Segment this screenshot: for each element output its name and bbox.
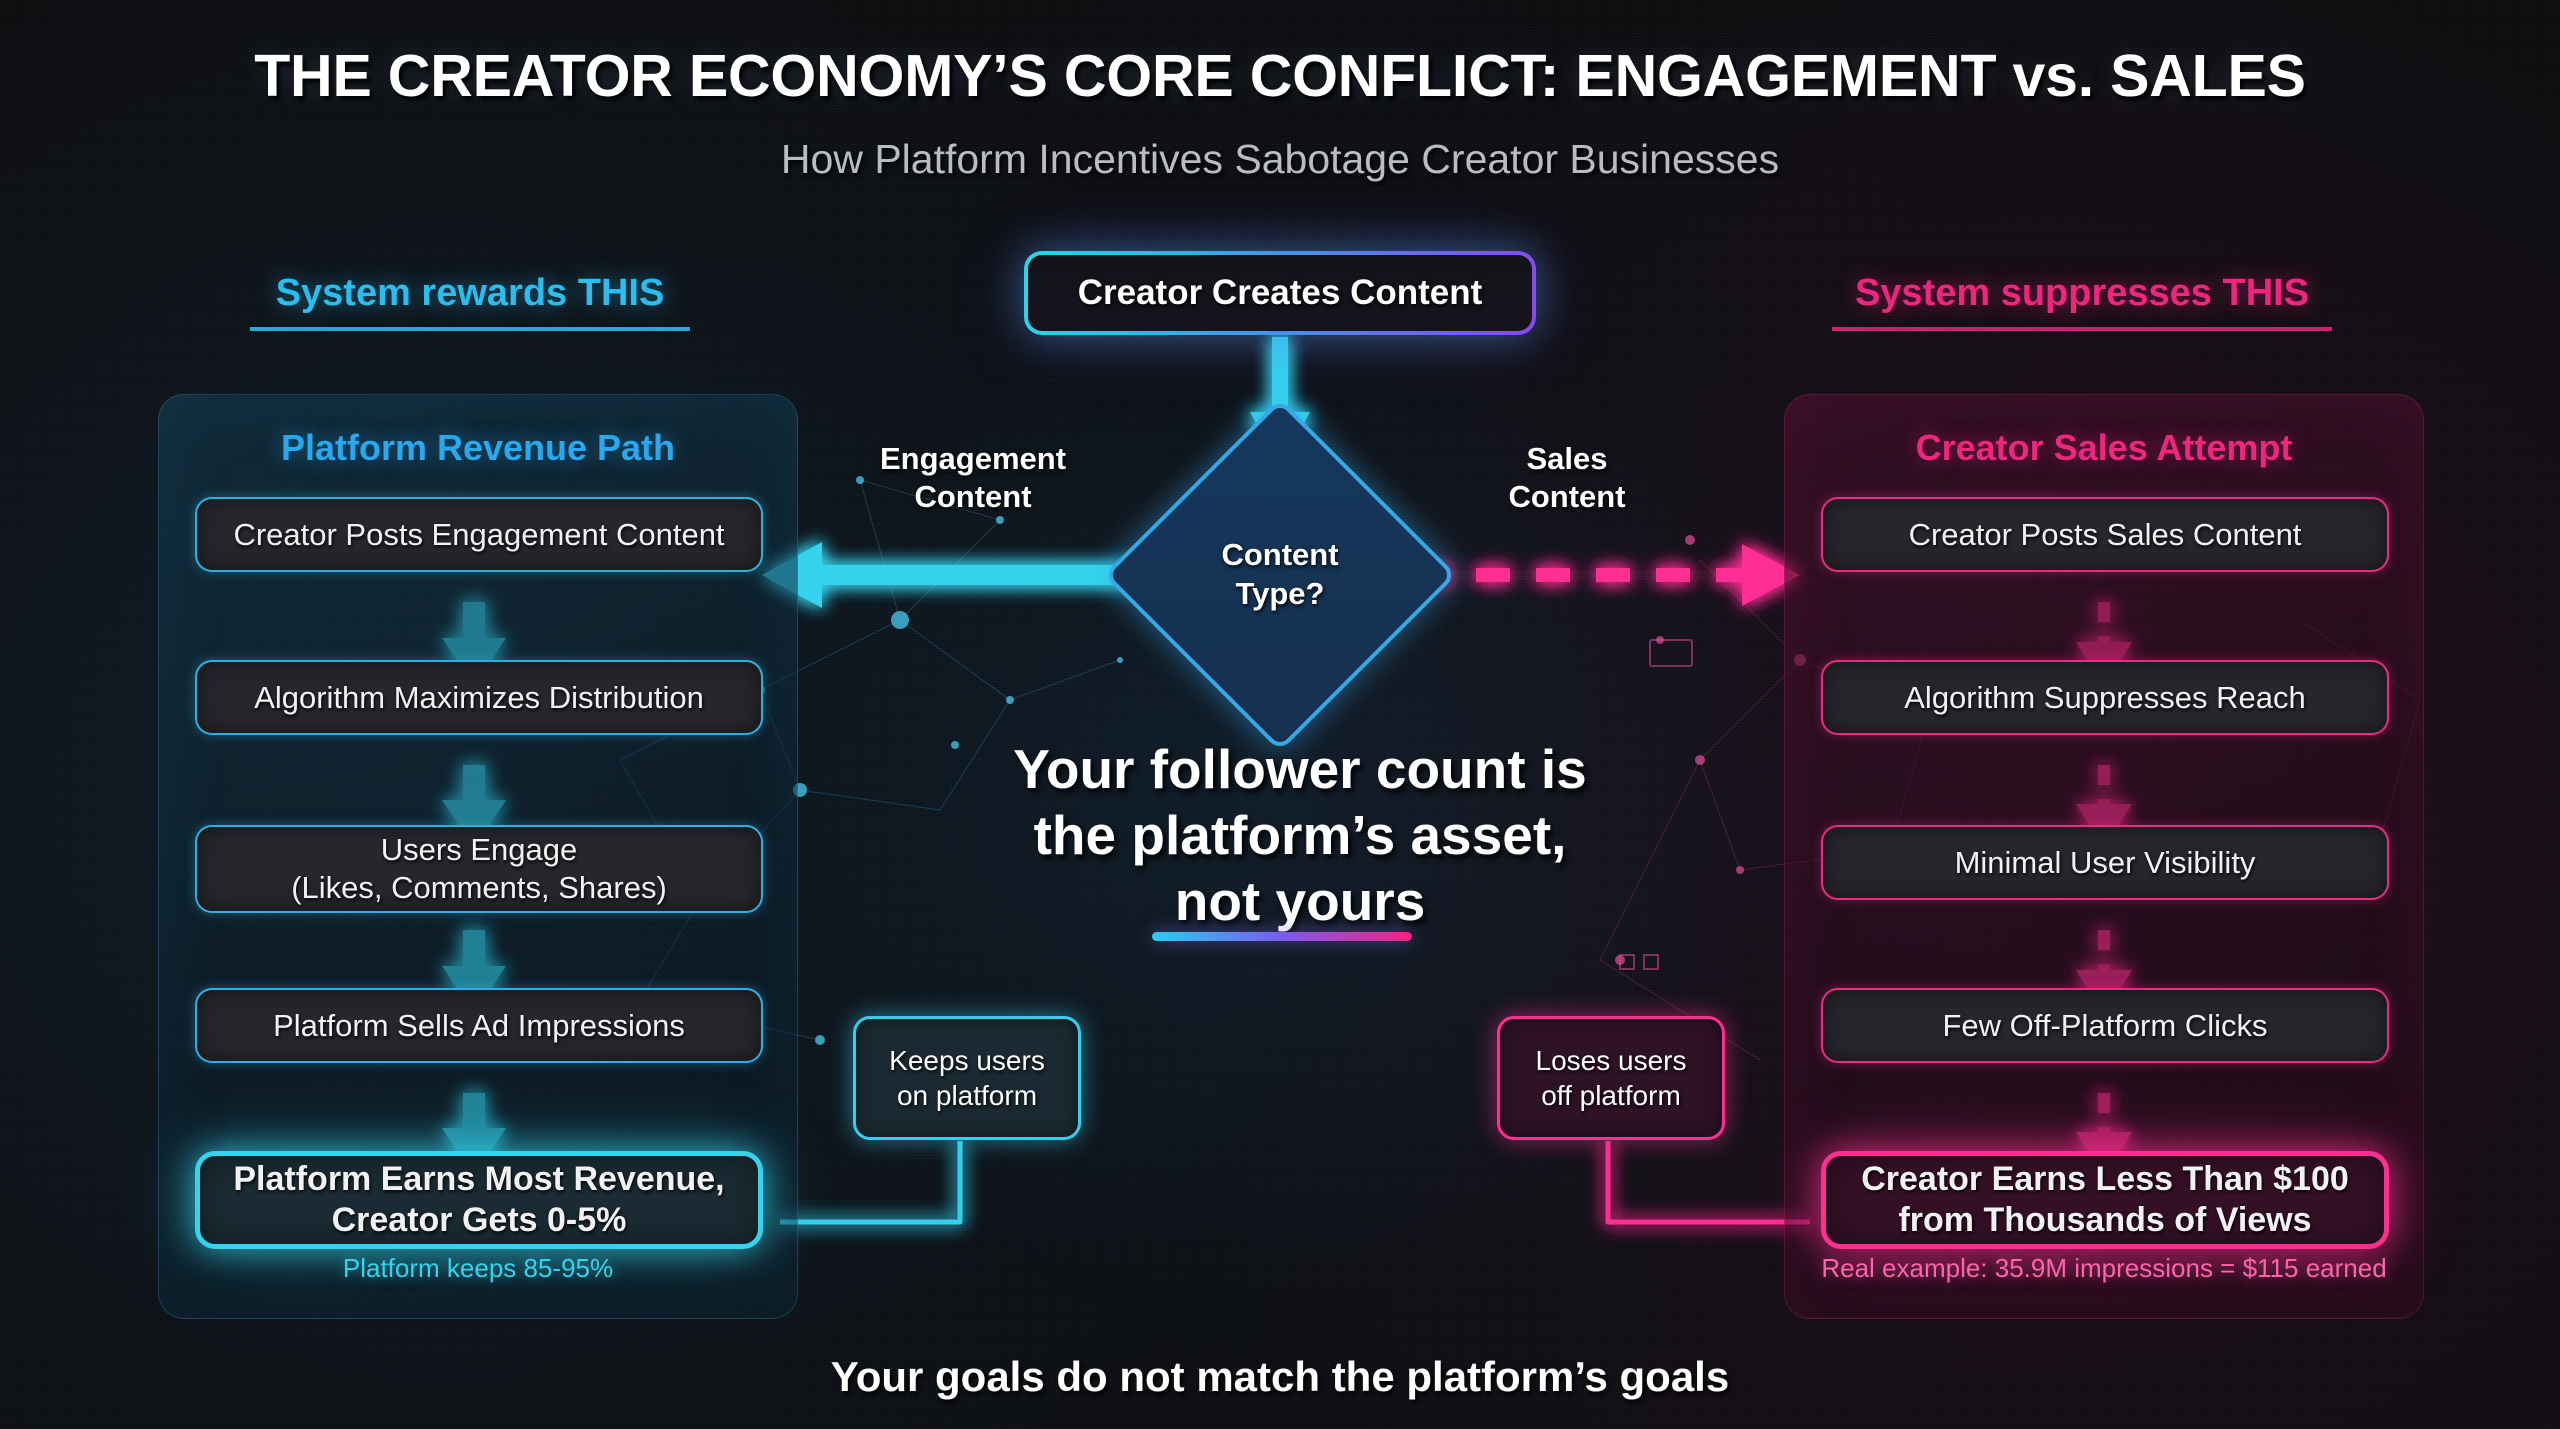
creator-sales-attempt-panel: Creator Sales Attempt Creator Posts Sale…: [1784, 394, 2424, 1319]
left-node-1-label: Creator Posts Engagement Content: [233, 516, 724, 554]
right-node-1-label: Creator Posts Sales Content: [1909, 516, 2302, 554]
edge-label-sales-line2: Content: [1452, 478, 1682, 516]
right-node-2[interactable]: Algorithm Suppresses Reach: [1821, 660, 2389, 735]
left-section-heading: System rewards THIS: [250, 272, 690, 331]
left-node-4-label: Platform Sells Ad Impressions: [273, 1007, 685, 1045]
decision-node-content-type[interactable]: Content Type?: [1155, 450, 1405, 700]
callout-connector-left: [780, 1141, 960, 1222]
callout-keeps-users-on-platform[interactable]: Keeps users on platform: [853, 1016, 1081, 1140]
edge-label-sales-line1: Sales: [1452, 440, 1682, 478]
center-quote-line2: the platform’s asset,: [930, 802, 1670, 868]
callout-left-line1: Keeps users: [889, 1043, 1045, 1078]
footer-takeaway: Your goals do not match the platform’s g…: [0, 1353, 2560, 1401]
right-panel-title: Creator Sales Attempt: [1785, 427, 2423, 469]
left-node-3-label-line1: Users Engage: [381, 831, 577, 869]
left-node-3-label-line2: (Likes, Comments, Shares): [291, 869, 667, 907]
right-node-4-label: Few Off-Platform Clicks: [1943, 1007, 2268, 1045]
callout-connector-right: [1608, 1141, 1810, 1222]
left-node-outcome-line2: Creator Gets 0-5%: [332, 1200, 627, 1241]
right-panel-footnote: Real example: 35.9M impressions = $115 e…: [1785, 1253, 2423, 1284]
right-node-3[interactable]: Minimal User Visibility: [1821, 825, 2389, 900]
left-panel-footnote: Platform keeps 85-95%: [159, 1253, 797, 1284]
right-node-4[interactable]: Few Off-Platform Clicks: [1821, 988, 2389, 1063]
infographic-canvas: THE CREATOR ECONOMY’S CORE CONFLICT: ENG…: [0, 0, 2560, 1429]
left-node-4[interactable]: Platform Sells Ad Impressions: [195, 988, 763, 1063]
edge-label-sales-content: Sales Content: [1452, 440, 1682, 516]
left-node-3[interactable]: Users Engage (Likes, Comments, Shares): [195, 825, 763, 913]
edge-label-engagement-line1: Engagement: [838, 440, 1108, 478]
start-node-creator-creates-content[interactable]: Creator Creates Content: [1024, 251, 1536, 335]
arrow-decision-to-sales: [1416, 544, 1800, 606]
right-section-heading: System suppresses THIS: [1832, 272, 2332, 331]
right-node-outcome-line2: from Thousands of Views: [1898, 1200, 2311, 1241]
platform-revenue-path-panel: Platform Revenue Path Creator Posts Enga…: [158, 394, 798, 1319]
right-node-3-label: Minimal User Visibility: [1955, 844, 2256, 882]
left-node-1[interactable]: Creator Posts Engagement Content: [195, 497, 763, 572]
left-node-outcome[interactable]: Platform Earns Most Revenue, Creator Get…: [195, 1151, 763, 1249]
left-node-2[interactable]: Algorithm Maximizes Distribution: [195, 660, 763, 735]
right-node-outcome[interactable]: Creator Earns Less Than $100 from Thousa…: [1821, 1151, 2389, 1249]
page-title: THE CREATOR ECONOMY’S CORE CONFLICT: ENG…: [0, 42, 2560, 110]
page-subtitle: How Platform Incentives Sabotage Creator…: [0, 136, 2560, 183]
edge-label-engagement-content: Engagement Content: [838, 440, 1108, 516]
left-node-outcome-line1: Platform Earns Most Revenue,: [233, 1159, 724, 1200]
callout-left-line2: on platform: [889, 1078, 1045, 1113]
center-quote: Your follower count is the platform’s as…: [930, 736, 1670, 934]
right-node-2-label: Algorithm Suppresses Reach: [1904, 679, 2305, 717]
right-node-1[interactable]: Creator Posts Sales Content: [1821, 497, 2389, 572]
center-quote-underline: [1152, 932, 1412, 941]
start-node-label: Creator Creates Content: [1078, 273, 1483, 313]
callout-loses-users-off-platform[interactable]: Loses users off platform: [1497, 1016, 1725, 1140]
callout-right-line1: Loses users: [1536, 1043, 1687, 1078]
arrow-decision-to-engagement: [762, 542, 1152, 608]
right-node-outcome-line1: Creator Earns Less Than $100: [1861, 1159, 2349, 1200]
edge-label-engagement-line2: Content: [838, 478, 1108, 516]
diamond-label-line2: Type?: [1236, 575, 1325, 614]
center-quote-line3: not yours: [930, 868, 1670, 934]
diamond-label-line1: Content: [1221, 536, 1338, 575]
center-quote-line1: Your follower count is: [930, 736, 1670, 802]
left-panel-title: Platform Revenue Path: [159, 427, 797, 469]
diamond-label: Content Type?: [1155, 450, 1405, 700]
left-node-2-label: Algorithm Maximizes Distribution: [254, 679, 704, 717]
callout-right-line2: off platform: [1536, 1078, 1687, 1113]
